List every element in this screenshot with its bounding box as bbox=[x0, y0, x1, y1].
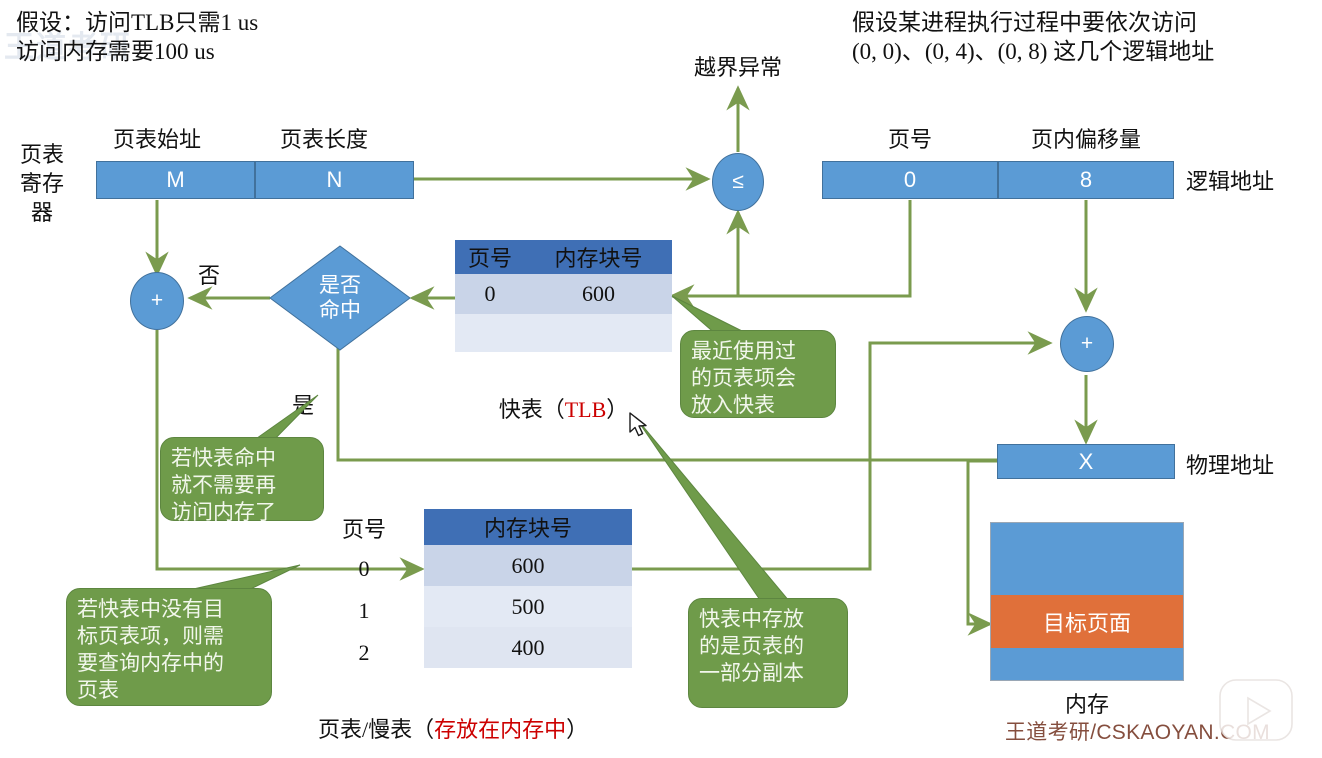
callout-recent-into-tlb: 最近使用过 的页表项会 放入快表 bbox=[680, 330, 836, 418]
callout-tail-tlb-is-copy bbox=[636, 418, 790, 602]
mouse-cursor bbox=[628, 412, 658, 442]
site-logo-icon bbox=[1204, 666, 1322, 758]
diagram-canvas: 王道考研 bbox=[0, 0, 1322, 751]
callout-tlb-is-copy: 快表中存放 的是页表的 一部分副本 bbox=[688, 598, 848, 708]
callout-tlb-miss-query: 若快表中没有目 标页表项，则需 要查询内存中的 页表 bbox=[66, 588, 272, 706]
callout-tlb-hit-no-mem: 若快表命中 就不需要再 访问内存了 bbox=[160, 437, 324, 521]
